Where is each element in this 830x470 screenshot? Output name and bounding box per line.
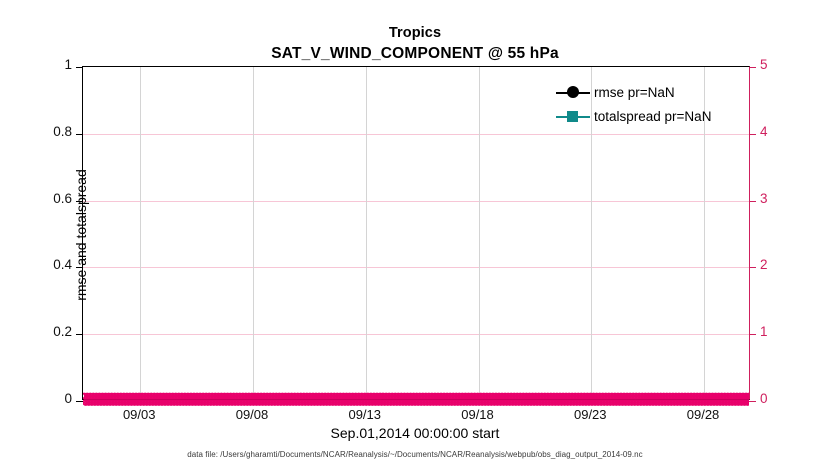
obs-possible-marker <box>352 400 357 405</box>
obs-assimilated-marker <box>371 400 376 405</box>
obs-assimilated-marker <box>481 400 486 405</box>
y-tick-label-right: 4 <box>760 124 800 139</box>
obs-assimilated-marker <box>320 400 325 405</box>
y-axis-tick-left <box>76 401 83 402</box>
obs-assimilated-marker <box>567 400 572 405</box>
obs-assimilated-marker <box>198 400 203 405</box>
obs-assimilated-marker <box>432 400 437 405</box>
y-tick-label-left: 1 <box>12 57 72 72</box>
obs-possible-marker <box>544 400 549 405</box>
obs-assimilated-marker <box>167 400 172 405</box>
x-tick-label: 09/08 <box>212 407 292 422</box>
obs-assimilated-marker <box>594 400 599 405</box>
obs-possible-marker <box>721 400 726 405</box>
obs-possible-marker <box>498 400 503 405</box>
obs-assimilated-marker <box>426 400 431 405</box>
obs-possible-marker <box>513 400 518 405</box>
obs-assimilated-marker <box>124 400 129 405</box>
obs-possible-marker <box>507 400 512 405</box>
obs-assimilated-marker <box>652 400 657 405</box>
obs-assimilated-marker <box>695 400 700 405</box>
square-marker-icon <box>556 107 590 125</box>
obs-assimilated-marker <box>618 400 623 405</box>
obs-possible-marker <box>336 400 341 405</box>
obs-possible-marker <box>220 400 225 405</box>
obs-possible-marker <box>187 400 192 405</box>
obs-possible-marker <box>443 400 448 405</box>
obs-assimilated-marker <box>106 400 111 405</box>
obs-assimilated-marker <box>170 400 175 405</box>
obs-possible-marker <box>342 400 347 405</box>
obs-possible-marker <box>705 400 710 405</box>
y-tick-label-left: 0 <box>12 391 72 406</box>
obs-possible-marker <box>681 400 686 405</box>
obs-assimilated-marker <box>130 400 135 405</box>
obs-possible-marker <box>117 400 122 405</box>
obs-possible-marker <box>382 400 387 405</box>
obs-assimilated-marker <box>484 400 489 405</box>
obs-assimilated-marker <box>384 400 389 405</box>
obs-assimilated-marker <box>121 400 126 405</box>
obs-assimilated-marker <box>576 400 581 405</box>
obs-possible-marker <box>644 400 649 405</box>
obs-possible-marker <box>141 400 146 405</box>
obs-possible-marker <box>306 400 311 405</box>
obs-assimilated-marker <box>460 400 465 405</box>
obs-assimilated-marker <box>524 400 529 405</box>
obs-possible-marker <box>434 400 439 405</box>
obs-possible-marker <box>632 400 637 405</box>
obs-assimilated-marker <box>713 400 718 405</box>
obs-assimilated-marker <box>429 400 434 405</box>
obs-possible-marker <box>596 400 601 405</box>
obs-possible-marker <box>98 400 103 405</box>
obs-assimilated-marker <box>438 400 443 405</box>
obs-assimilated-marker <box>103 400 108 405</box>
data-file-caption: data file: /Users/gharamti/Documents/NCA… <box>0 450 830 459</box>
y-axis-tick-left <box>76 334 83 335</box>
obs-possible-marker <box>708 400 713 405</box>
obs-possible-marker <box>678 400 683 405</box>
obs-assimilated-marker <box>313 400 318 405</box>
obs-possible-marker <box>687 400 692 405</box>
obs-assimilated-marker <box>390 400 395 405</box>
obs-possible-marker <box>291 400 296 405</box>
obs-possible-marker <box>254 400 259 405</box>
obs-possible-marker <box>623 400 628 405</box>
obs-possible-marker <box>388 400 393 405</box>
obs-assimilated-marker <box>490 400 495 405</box>
obs-possible-marker <box>602 400 607 405</box>
obs-possible-marker <box>406 400 411 405</box>
obs-assimilated-marker <box>582 400 587 405</box>
obs-assimilated-marker <box>734 400 739 405</box>
x-tick-label: 09/13 <box>325 407 405 422</box>
obs-assimilated-marker <box>182 400 187 405</box>
obs-assimilated-marker <box>503 400 508 405</box>
obs-possible-marker <box>367 400 372 405</box>
obs-assimilated-marker <box>219 400 224 405</box>
obs-assimilated-marker <box>83 400 87 405</box>
obs-possible-marker <box>230 400 235 405</box>
obs-possible-marker <box>611 400 616 405</box>
obs-possible-marker <box>501 400 506 405</box>
obs-assimilated-marker <box>289 400 294 405</box>
obs-assimilated-marker <box>542 400 547 405</box>
obs-possible-marker <box>312 400 317 405</box>
obs-possible-marker <box>129 400 134 405</box>
obs-possible-marker <box>583 400 588 405</box>
obs-assimilated-marker <box>326 400 331 405</box>
obs-assimilated-marker <box>661 400 666 405</box>
obs-possible-marker <box>178 400 183 405</box>
obs-assimilated-marker <box>277 400 282 405</box>
obs-possible-marker <box>733 400 738 405</box>
obs-assimilated-marker <box>271 400 276 405</box>
obs-assimilated-marker <box>246 400 251 405</box>
obs-assimilated-marker <box>667 400 672 405</box>
obs-possible-marker <box>269 400 274 405</box>
obs-possible-marker <box>437 400 442 405</box>
obs-assimilated-marker <box>496 400 501 405</box>
obs-assimilated-marker <box>420 400 425 405</box>
obs-possible-marker <box>620 400 625 405</box>
obs-possible-marker <box>275 400 280 405</box>
obs-possible-marker <box>379 400 384 405</box>
obs-possible-marker <box>236 400 241 405</box>
obs-assimilated-marker <box>268 400 273 405</box>
obs-possible-marker <box>150 400 155 405</box>
obs-possible-marker <box>617 400 622 405</box>
obs-assimilated-marker <box>728 400 733 405</box>
obs-assimilated-marker <box>521 400 526 405</box>
obs-possible-marker <box>510 400 515 405</box>
gridline-vertical <box>366 67 367 399</box>
obs-assimilated-marker <box>463 400 468 405</box>
obs-possible-marker <box>327 400 332 405</box>
obs-possible-marker <box>559 400 564 405</box>
obs-assimilated-marker <box>621 400 626 405</box>
y-axis-tick-right <box>749 67 756 68</box>
obs-assimilated-marker <box>698 400 703 405</box>
obs-assimilated-marker <box>658 400 663 405</box>
obs-assimilated-marker <box>637 400 642 405</box>
obs-assimilated-marker <box>274 400 279 405</box>
obs-assimilated-marker <box>603 400 608 405</box>
gridline-vertical <box>253 67 254 399</box>
obs-assimilated-marker <box>359 400 364 405</box>
obs-possible-marker <box>449 400 454 405</box>
legend-label-rmse: rmse pr=NaN <box>594 85 675 100</box>
obs-assimilated-marker <box>518 400 523 405</box>
obs-possible-marker <box>422 400 427 405</box>
obs-assimilated-marker <box>216 400 221 405</box>
obs-possible-marker <box>547 400 552 405</box>
obs-assimilated-marker <box>499 400 504 405</box>
obs-possible-marker <box>263 400 268 405</box>
obs-possible-marker <box>684 400 689 405</box>
obs-possible-marker <box>217 400 222 405</box>
y-axis-tick-right <box>749 201 756 202</box>
obs-possible-marker <box>629 400 634 405</box>
obs-assimilated-marker <box>316 400 321 405</box>
obs-possible-marker <box>92 400 97 405</box>
obs-possible-marker <box>672 400 677 405</box>
obs-assimilated-marker <box>743 400 748 405</box>
obs-possible-marker <box>156 400 161 405</box>
obs-possible-marker <box>675 400 680 405</box>
obs-possible-marker <box>101 400 106 405</box>
obs-assimilated-marker <box>149 400 154 405</box>
obs-assimilated-marker <box>615 400 620 405</box>
obs-assimilated-marker <box>515 400 520 405</box>
obs-possible-marker <box>605 400 610 405</box>
obs-assimilated-marker <box>548 400 553 405</box>
obs-possible-marker <box>223 400 228 405</box>
obs-assimilated-marker <box>740 400 745 405</box>
obs-assimilated-marker <box>158 400 163 405</box>
obs-assimilated-marker <box>350 400 355 405</box>
obs-possible-marker <box>541 400 546 405</box>
obs-possible-marker <box>397 400 402 405</box>
obs-possible-marker <box>83 400 88 405</box>
obs-assimilated-marker <box>133 400 138 405</box>
obs-possible-marker <box>650 400 655 405</box>
obs-possible-marker <box>190 400 195 405</box>
obs-assimilated-marker <box>493 400 498 405</box>
obs-possible-marker <box>730 400 735 405</box>
obs-assimilated-marker <box>280 400 285 405</box>
obs-assimilated-marker <box>329 400 334 405</box>
obs-possible-marker <box>370 400 375 405</box>
obs-possible-marker <box>489 400 494 405</box>
obs-assimilated-marker <box>237 400 242 405</box>
obs-possible-marker <box>452 400 457 405</box>
obs-assimilated-marker <box>176 400 181 405</box>
obs-possible-marker <box>550 400 555 405</box>
y-axis-tick-left <box>76 134 83 135</box>
obs-assimilated-marker <box>673 400 678 405</box>
obs-possible-marker <box>519 400 524 405</box>
obs-assimilated-marker <box>676 400 681 405</box>
gridline-horizontal <box>83 134 749 135</box>
obs-possible-marker <box>287 400 292 405</box>
obs-assimilated-marker <box>377 400 382 405</box>
obs-possible-marker <box>147 400 152 405</box>
obs-assimilated-marker <box>454 400 459 405</box>
obs-possible-marker <box>162 400 167 405</box>
obs-possible-marker <box>492 400 497 405</box>
obs-possible-marker <box>464 400 469 405</box>
obs-assimilated-marker <box>286 400 291 405</box>
obs-possible-marker <box>309 400 314 405</box>
obs-assimilated-marker <box>686 400 691 405</box>
obs-possible-marker <box>440 400 445 405</box>
obs-assimilated-marker <box>207 400 212 405</box>
obs-assimilated-marker <box>396 400 401 405</box>
obs-possible-marker <box>226 400 231 405</box>
obs-assimilated-marker <box>585 400 590 405</box>
obs-assimilated-marker <box>262 400 267 405</box>
obs-possible-marker <box>556 400 561 405</box>
obs-possible-marker <box>455 400 460 405</box>
obs-possible-marker <box>175 400 180 405</box>
obs-assimilated-marker <box>225 400 230 405</box>
legend-item-totalspread: totalspread pr=NaN <box>556 106 738 126</box>
y-tick-label-left: 0.2 <box>12 324 72 339</box>
obs-assimilated-marker <box>341 400 346 405</box>
obs-possible-marker <box>711 400 716 405</box>
obs-assimilated-marker <box>185 400 190 405</box>
obs-assimilated-marker <box>560 400 565 405</box>
obs-assimilated-marker <box>301 400 306 405</box>
obs-possible-marker <box>565 400 570 405</box>
chart-legend: rmse pr=NaN totalspread pr=NaN <box>556 82 738 130</box>
obs-possible-marker <box>120 400 125 405</box>
obs-possible-marker <box>257 400 262 405</box>
obs-possible-marker <box>562 400 567 405</box>
obs-assimilated-marker <box>94 400 99 405</box>
obs-assimilated-marker <box>179 400 184 405</box>
obs-possible-marker <box>208 400 213 405</box>
obs-assimilated-marker <box>472 400 477 405</box>
obs-possible-marker <box>538 400 543 405</box>
obs-assimilated-marker <box>191 400 196 405</box>
obs-possible-marker <box>574 400 579 405</box>
obs-assimilated-marker <box>643 400 648 405</box>
obs-possible-marker <box>159 400 164 405</box>
obs-assimilated-marker <box>292 400 297 405</box>
obs-assimilated-marker <box>530 400 535 405</box>
obs-assimilated-marker <box>631 400 636 405</box>
obs-assimilated-marker <box>173 400 178 405</box>
obs-assimilated-marker <box>710 400 715 405</box>
obs-assimilated-marker <box>682 400 687 405</box>
obs-assimilated-marker <box>414 400 419 405</box>
obs-possible-marker <box>416 400 421 405</box>
obs-possible-marker <box>391 400 396 405</box>
obs-possible-marker <box>181 400 186 405</box>
y-tick-label-right: 3 <box>760 191 800 206</box>
gridline-horizontal <box>83 201 749 202</box>
obs-possible-marker <box>626 400 631 405</box>
obs-possible-marker <box>233 400 238 405</box>
obs-assimilated-marker <box>545 400 550 405</box>
obs-possible-marker <box>315 400 320 405</box>
obs-assimilated-marker <box>332 400 337 405</box>
y-axis-tick-right <box>749 334 756 335</box>
obs-possible-marker <box>525 400 530 405</box>
obs-assimilated-marker <box>298 400 303 405</box>
x-tick-label: 09/28 <box>663 407 743 422</box>
obs-possible-marker <box>480 400 485 405</box>
obs-assimilated-marker <box>231 400 236 405</box>
obs-assimilated-marker <box>304 400 309 405</box>
obs-assimilated-marker <box>323 400 328 405</box>
obs-possible-marker <box>647 400 652 405</box>
obs-assimilated-marker <box>100 400 105 405</box>
obs-possible-marker <box>400 400 405 405</box>
x-axis-tick <box>140 399 141 405</box>
obs-possible-marker <box>321 400 326 405</box>
obs-assimilated-marker <box>405 400 410 405</box>
y-axis-tick-right <box>749 401 756 402</box>
obs-possible-marker <box>266 400 271 405</box>
x-tick-label: 09/18 <box>438 407 518 422</box>
obs-possible-marker <box>272 400 277 405</box>
obs-assimilated-marker <box>600 400 605 405</box>
gridline-vertical <box>140 67 141 399</box>
obs-assimilated-marker <box>457 400 462 405</box>
obs-possible-marker <box>409 400 414 405</box>
obs-assimilated-marker <box>194 400 199 405</box>
obs-assimilated-marker <box>307 400 312 405</box>
gridline-horizontal <box>83 267 749 268</box>
obs-assimilated-marker <box>374 400 379 405</box>
obs-assimilated-marker <box>265 400 270 405</box>
obs-possible-marker <box>653 400 658 405</box>
obs-possible-marker <box>571 400 576 405</box>
obs-possible-marker <box>599 400 604 405</box>
gridline-horizontal <box>83 334 749 335</box>
obs-possible-marker <box>693 400 698 405</box>
obs-possible-marker <box>635 400 640 405</box>
obs-assimilated-marker <box>722 400 727 405</box>
page-title: Tropics <box>0 24 830 43</box>
obs-possible-marker <box>199 400 204 405</box>
obs-possible-marker <box>297 400 302 405</box>
obs-assimilated-marker <box>448 400 453 405</box>
obs-assimilated-marker <box>402 400 407 405</box>
obs-possible-marker <box>531 400 536 405</box>
obs-assimilated-marker <box>347 400 352 405</box>
gridline-vertical <box>479 67 480 399</box>
obs-possible-marker <box>196 400 201 405</box>
obs-possible-marker <box>516 400 521 405</box>
obs-possible-marker <box>211 400 216 405</box>
obs-assimilated-marker <box>579 400 584 405</box>
y-tick-label-right: 1 <box>760 324 800 339</box>
x-axis-label: Sep.01,2014 00:00:00 start <box>0 425 830 441</box>
obs-assimilated-marker <box>152 400 157 405</box>
obs-possible-marker <box>333 400 338 405</box>
obs-assimilated-marker <box>606 400 611 405</box>
obs-assimilated-marker <box>97 400 102 405</box>
y-axis-label-left: rmse and totalspread <box>73 169 89 301</box>
x-tick-label: 09/03 <box>99 407 179 422</box>
obs-assimilated-marker <box>670 400 675 405</box>
obs-assimilated-marker <box>509 400 514 405</box>
obs-assimilated-marker <box>487 400 492 405</box>
obs-possible-marker <box>242 400 247 405</box>
obs-possible-marker <box>278 400 283 405</box>
y-axis-tick-left <box>76 67 83 68</box>
obs-assimilated-marker <box>228 400 233 405</box>
obs-possible-marker <box>458 400 463 405</box>
x-axis-tick <box>253 399 254 405</box>
y-tick-label-right: 2 <box>760 257 800 272</box>
obs-possible-marker <box>736 400 741 405</box>
obs-possible-marker <box>470 400 475 405</box>
obs-assimilated-marker <box>423 400 428 405</box>
obs-possible-marker <box>742 400 747 405</box>
obs-possible-marker <box>669 400 674 405</box>
chart-title-block: Tropics SAT_V_WIND_COMPONENT @ 55 hPa <box>0 24 830 64</box>
obs-possible-marker <box>318 400 323 405</box>
obs-possible-marker <box>608 400 613 405</box>
obs-assimilated-marker <box>512 400 517 405</box>
obs-assimilated-marker <box>634 400 639 405</box>
